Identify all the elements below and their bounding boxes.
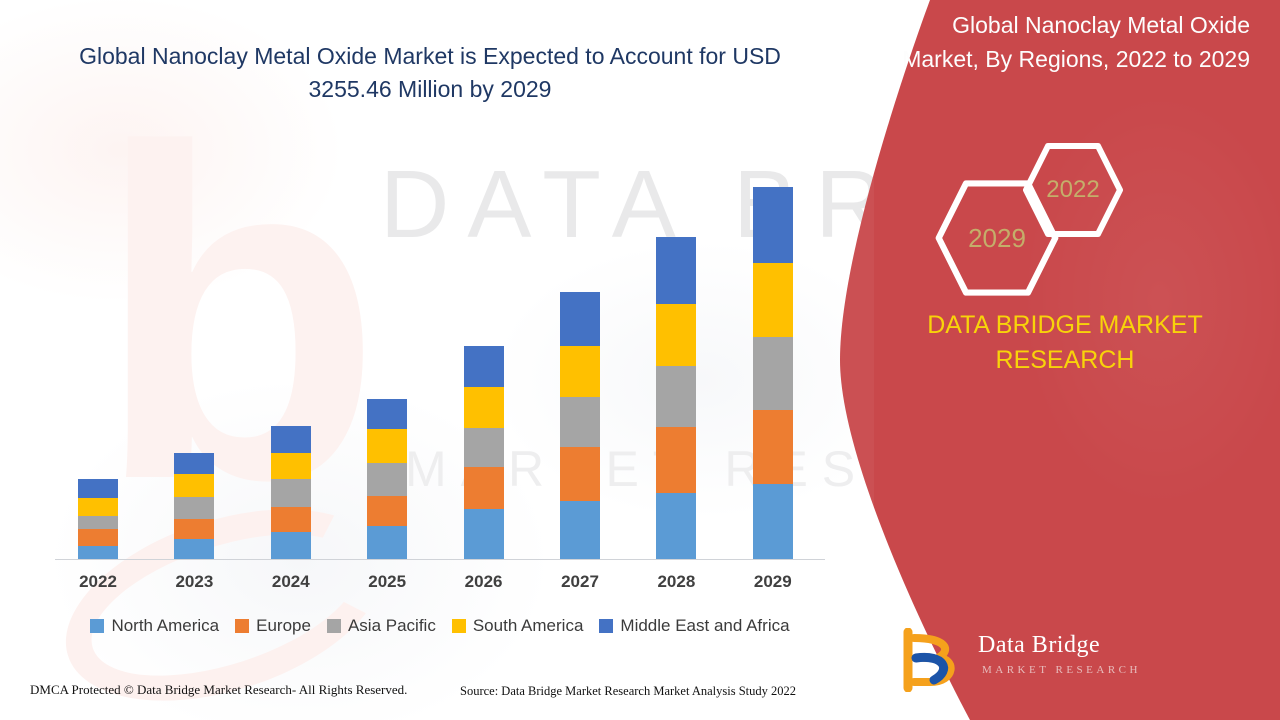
legend-label: Middle East and Africa <box>620 616 789 636</box>
bar-segment[interactable] <box>753 187 793 263</box>
bar-segment[interactable] <box>174 497 214 519</box>
bar-segment[interactable] <box>464 467 504 509</box>
bar-2028[interactable] <box>656 237 696 559</box>
logo-tagline: MARKET RESEARCH <box>982 664 1141 676</box>
bar-segment[interactable] <box>656 427 696 493</box>
panel-title: Global Nanoclay Metal Oxide Market, By R… <box>880 8 1250 76</box>
bar-segment[interactable] <box>656 304 696 366</box>
bar-segment[interactable] <box>271 507 311 532</box>
x-axis-label-2024: 2024 <box>251 572 331 592</box>
footer-source: Source: Data Bridge Market Research Mark… <box>460 684 796 699</box>
x-axis-label-2023: 2023 <box>154 572 234 592</box>
brand-name: DATA BRIDGE MARKET RESEARCH <box>880 308 1250 378</box>
bar-segment[interactable] <box>656 366 696 427</box>
footer: DMCA Protected © Data Bridge Market Rese… <box>0 682 880 706</box>
hexagon-badges: 2029 2022 <box>935 140 1185 300</box>
bar-segment[interactable] <box>464 428 504 467</box>
legend-label: Asia Pacific <box>348 616 436 636</box>
bar-segment[interactable] <box>367 496 407 526</box>
x-axis-label-2028: 2028 <box>636 572 716 592</box>
bar-segment[interactable] <box>271 532 311 559</box>
bar-segment[interactable] <box>464 387 504 428</box>
legend-swatch-icon <box>599 619 613 633</box>
bar-segment[interactable] <box>78 516 118 529</box>
bar-segment[interactable] <box>78 479 118 498</box>
bar-segment[interactable] <box>78 498 118 516</box>
company-logo: Data Bridge MARKET RESEARCH <box>900 628 1230 698</box>
legend-item[interactable]: Europe <box>235 616 311 636</box>
x-axis-label-2029: 2029 <box>733 572 813 592</box>
bar-segment[interactable] <box>560 397 600 447</box>
bar-segment[interactable] <box>367 399 407 429</box>
plot-area <box>55 140 825 560</box>
x-axis-label-2022: 2022 <box>58 572 138 592</box>
logo-company-name: Data Bridge <box>978 632 1100 659</box>
legend-swatch-icon <box>235 619 249 633</box>
bar-segment[interactable] <box>464 509 504 559</box>
bar-2025[interactable] <box>367 399 407 559</box>
bar-segment[interactable] <box>560 501 600 559</box>
chart-legend: North AmericaEuropeAsia PacificSouth Ame… <box>0 616 880 636</box>
hexagon-badge-2022: 2022 <box>1023 140 1123 240</box>
bar-segment[interactable] <box>174 474 214 497</box>
legend-swatch-icon <box>90 619 104 633</box>
x-axis-labels: 20222023202420252026202720282029 <box>55 572 825 598</box>
bar-segment[interactable] <box>753 484 793 559</box>
bar-segment[interactable] <box>174 539 214 559</box>
bar-segment[interactable] <box>271 453 311 479</box>
bar-segment[interactable] <box>753 410 793 484</box>
legend-swatch-icon <box>327 619 341 633</box>
bar-segment[interactable] <box>271 479 311 507</box>
bar-segment[interactable] <box>271 426 311 453</box>
bar-segment[interactable] <box>367 463 407 496</box>
legend-item[interactable]: Middle East and Africa <box>599 616 789 636</box>
bar-segment[interactable] <box>753 337 793 410</box>
bar-segment[interactable] <box>560 346 600 397</box>
bar-segment[interactable] <box>560 447 600 501</box>
x-axis-label-2025: 2025 <box>347 572 427 592</box>
bar-2026[interactable] <box>464 346 504 559</box>
chart-title: Global Nanoclay Metal Oxide Market is Ex… <box>60 40 800 106</box>
bar-segment[interactable] <box>174 453 214 474</box>
x-axis-label-2027: 2027 <box>540 572 620 592</box>
bridge-logo-icon <box>900 628 970 692</box>
bar-2022[interactable] <box>78 479 118 559</box>
legend-swatch-icon <box>452 619 466 633</box>
bar-segment[interactable] <box>174 519 214 539</box>
bar-segment[interactable] <box>78 546 118 559</box>
bar-2023[interactable] <box>174 453 214 559</box>
bar-segment[interactable] <box>367 429 407 463</box>
chart-panel: Global Nanoclay Metal Oxide Market is Ex… <box>0 0 880 720</box>
bar-segment[interactable] <box>367 526 407 559</box>
x-axis-line <box>55 559 825 560</box>
legend-label: South America <box>473 616 584 636</box>
bar-segment[interactable] <box>753 263 793 337</box>
bar-2029[interactable] <box>753 187 793 559</box>
bar-2024[interactable] <box>271 426 311 559</box>
legend-item[interactable]: South America <box>452 616 584 636</box>
legend-label: North America <box>111 616 219 636</box>
right-info-panel: Global Nanoclay Metal Oxide Market, By R… <box>840 0 1280 720</box>
footer-copyright: DMCA Protected © Data Bridge Market Rese… <box>30 682 407 698</box>
bar-segment[interactable] <box>656 493 696 559</box>
legend-label: Europe <box>256 616 311 636</box>
legend-item[interactable]: North America <box>90 616 219 636</box>
bar-segment[interactable] <box>78 529 118 546</box>
bar-segment[interactable] <box>560 292 600 346</box>
bar-segment[interactable] <box>464 346 504 387</box>
bar-segment[interactable] <box>656 237 696 304</box>
x-axis-label-2026: 2026 <box>444 572 524 592</box>
legend-item[interactable]: Asia Pacific <box>327 616 436 636</box>
hexagon-badge-2022-label: 2022 <box>1046 176 1099 204</box>
hexagon-badge-2029-label: 2029 <box>968 223 1026 254</box>
bar-2027[interactable] <box>560 292 600 559</box>
